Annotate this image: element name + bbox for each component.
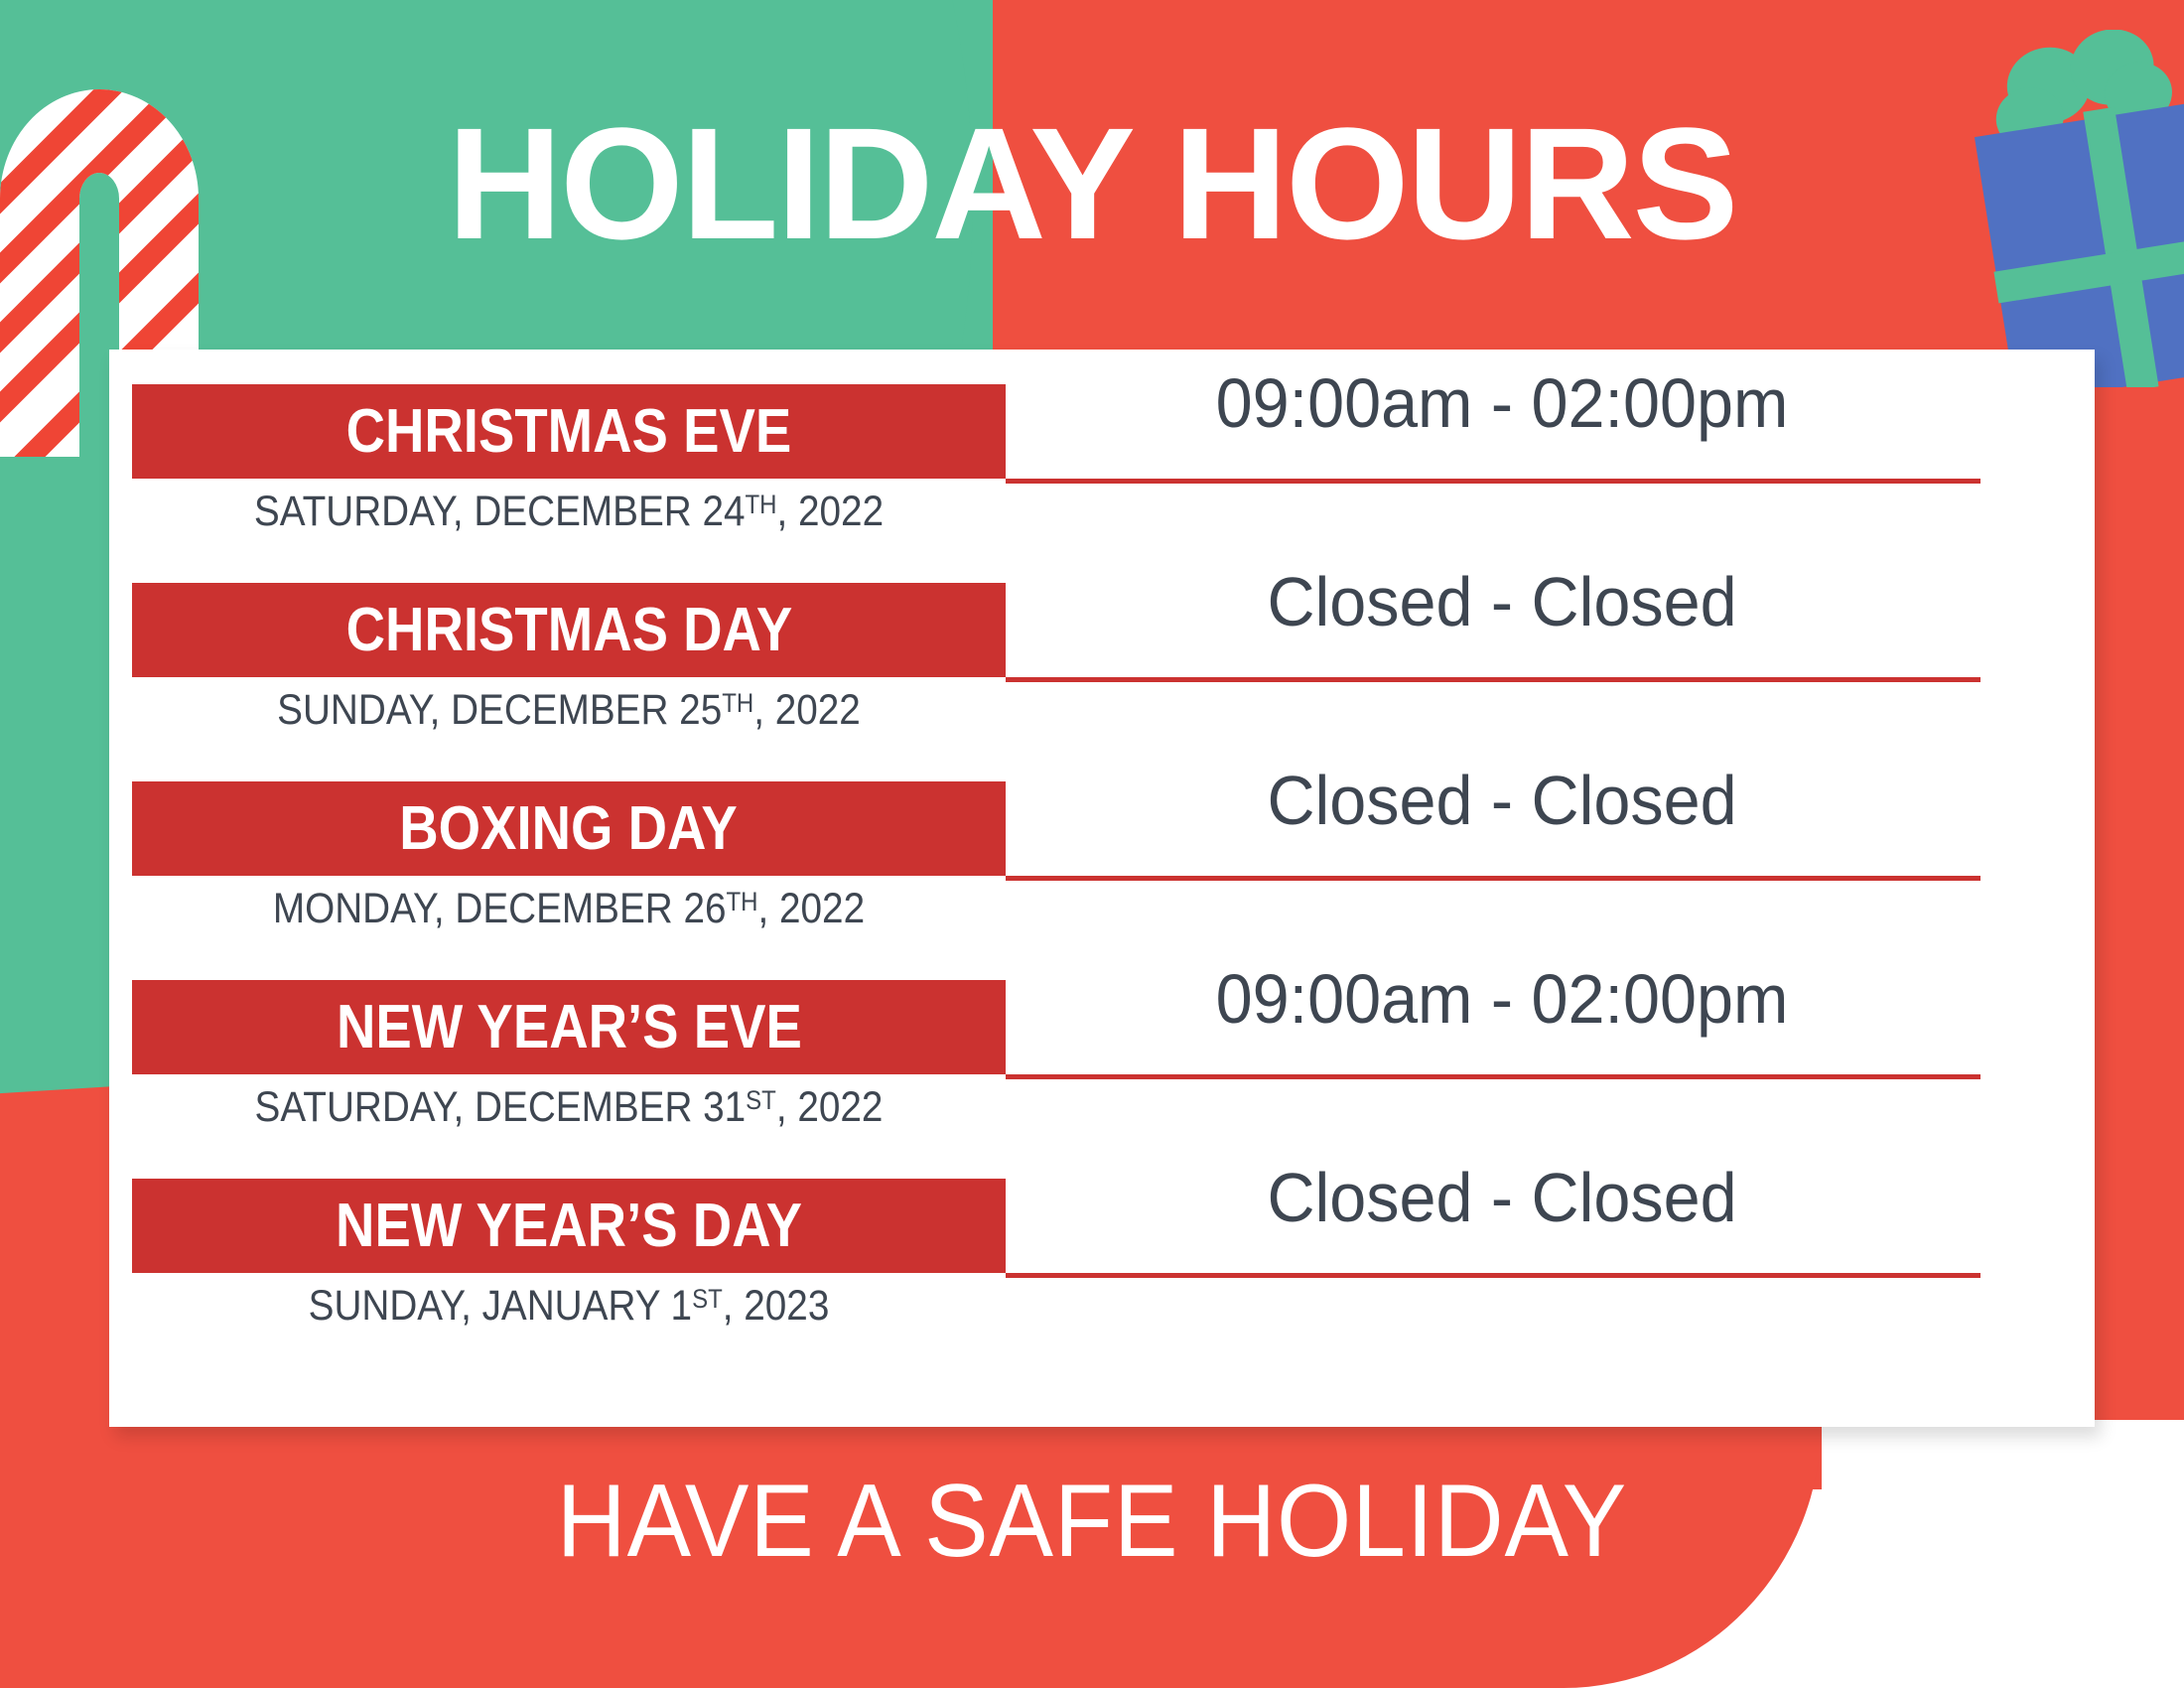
date-ordinal-suffix: ST [746,1085,776,1115]
date-text: SUNDAY, DECEMBER 25 [277,686,722,734]
holiday-date-label: SUNDAY, JANUARY 1ST, 2023 [176,1283,962,1330]
date-ordinal-suffix: TH [722,688,753,718]
holiday-name-bar: CHRISTMAS EVE [132,384,1006,479]
schedule-row: CHRISTMAS DAY SUNDAY, DECEMBER 25TH, 202… [109,548,2095,747]
holiday-hours-text: Closed - Closed [1030,562,1974,642]
holiday-hours-cell: Closed - Closed [1006,757,1998,876]
holiday-hours-cell: 09:00am - 02:00pm [1006,955,1998,1074]
schedule-rows: CHRISTMAS EVE SATURDAY, DECEMBER 24TH, 2… [109,350,2095,1427]
holiday-hours-text: Closed - Closed [1030,1158,1974,1238]
holiday-name-label: NEW YEAR’S DAY [336,1196,802,1257]
hours-underline [1006,876,1980,881]
schedule-row: NEW YEAR’S DAY SUNDAY, JANUARY 1ST, 2023… [109,1144,2095,1342]
holiday-date-label: SATURDAY, DECEMBER 31ST, 2022 [176,1084,962,1131]
date-year: , 2022 [777,488,885,535]
schedule-row: CHRISTMAS EVE SATURDAY, DECEMBER 24TH, 2… [109,350,2095,548]
date-year: , 2022 [776,1083,884,1131]
holiday-name-bar: BOXING DAY [132,781,1006,876]
holiday-hours-cell: Closed - Closed [1006,1154,1998,1273]
date-text: SATURDAY, DECEMBER 24 [254,488,746,535]
holiday-hours-poster: HOLIDAY HOURS CHRISTMAS EVE SATURDAY, DE… [0,0,2184,1688]
hours-underline [1006,479,1980,484]
holiday-hours-text: Closed - Closed [1030,761,1974,841]
date-ordinal-suffix: TH [746,490,777,519]
holiday-hours-text: 09:00am - 02:00pm [1030,363,1974,444]
date-year: , 2022 [753,686,861,734]
date-year: , 2022 [758,885,866,932]
page-title: HOLIDAY HOURS [0,104,2184,263]
holiday-hours-cell: 09:00am - 02:00pm [1006,359,1998,479]
footer-message: HAVE A SAFE HOLIDAY [76,1470,2108,1573]
date-text: MONDAY, DECEMBER 26 [273,885,727,932]
hours-underline [1006,677,1980,682]
holiday-name-label: CHRISTMAS DAY [345,600,792,661]
holiday-name-bar: NEW YEAR’S EVE [132,980,1006,1074]
holiday-date-label: SUNDAY, DECEMBER 25TH, 2022 [176,687,962,734]
date-ordinal-suffix: ST [692,1284,723,1314]
date-year: , 2023 [723,1282,830,1330]
holiday-name-bar: NEW YEAR’S DAY [132,1179,1006,1273]
schedule-card: CHRISTMAS EVE SATURDAY, DECEMBER 24TH, 2… [109,350,2095,1427]
holiday-name-label: CHRISTMAS EVE [346,401,792,463]
holiday-name-label: BOXING DAY [400,798,739,860]
date-ordinal-suffix: TH [727,887,758,916]
schedule-row: BOXING DAY MONDAY, DECEMBER 26TH, 2022 C… [109,747,2095,945]
hours-underline [1006,1273,1980,1278]
holiday-date-label: MONDAY, DECEMBER 26TH, 2022 [176,886,962,932]
holiday-hours-text: 09:00am - 02:00pm [1030,959,1974,1040]
holiday-hours-cell: Closed - Closed [1006,558,1998,677]
holiday-name-label: NEW YEAR’S EVE [337,997,802,1058]
holiday-name-bar: CHRISTMAS DAY [132,583,1006,677]
date-text: SUNDAY, JANUARY 1 [309,1282,692,1330]
date-text: SATURDAY, DECEMBER 31 [255,1083,747,1131]
holiday-date-label: SATURDAY, DECEMBER 24TH, 2022 [176,489,962,535]
schedule-row: NEW YEAR’S EVE SATURDAY, DECEMBER 31ST, … [109,945,2095,1144]
hours-underline [1006,1074,1980,1079]
